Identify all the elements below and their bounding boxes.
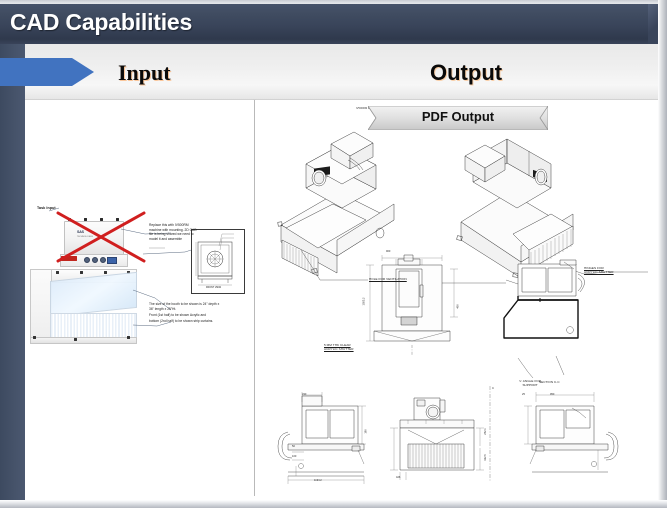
slide-root: CAD Capabilities Input Output SAS TECHNO…	[0, 0, 667, 508]
dim-sub-h: 25	[522, 393, 525, 396]
dim-sub-b: 330	[302, 393, 306, 396]
task-input-label: Task Input	[37, 206, 56, 210]
callout-hinges-line2: ACRYLIC SHUTTER	[584, 270, 614, 274]
annotation-booth-size-intro: The size of the booth to be shown is 24"…	[149, 302, 223, 311]
slide-title-bar: CAD Capabilities	[0, 4, 658, 44]
pdf-output-tab[interactable]: PDF Output	[368, 106, 548, 130]
section-marker-c: C	[492, 386, 494, 390]
output-panel: HOLE FOR VENTILATION HINGES FOR ACRYLIC …	[256, 99, 658, 497]
callout-clear-acrylic-shutter: 5 MM THK CLEAR ACRYLIC SHUTTER	[324, 343, 354, 351]
input-panel: SAS TECHNOLOGIES	[25, 99, 253, 497]
dim-depth: 950	[550, 393, 554, 396]
annotation-leader-lines	[25, 100, 253, 497]
dim-sub-a: 400	[457, 304, 460, 308]
callout-langle-line2: SUPPORT	[519, 383, 541, 387]
inset-front-view-drawing: FRONT VIEW	[191, 229, 245, 294]
annotation-bullet-bottom: bottom (2nd half) to be shown strip curt…	[149, 319, 223, 324]
dim-sub-c: 252.1	[484, 428, 487, 435]
cad-drawing-sheet: HOLE FOR VENTILATION HINGES FOR ACRYLIC …	[256, 100, 658, 497]
title-bar-corner-fold	[648, 4, 658, 44]
section-cc-label: SECTION C-C	[539, 380, 560, 384]
pdf-output-tab-label: PDF Output	[368, 109, 548, 124]
red-x-cross-out-icon	[55, 210, 147, 264]
annotation-booth-size: The size of the booth to be shown is 24"…	[149, 302, 223, 324]
annotation-bullet-front: Front (1st half) to be shown Acrylic and	[149, 313, 223, 318]
dim-sub-e: 190	[365, 429, 368, 433]
dim-height: 1053.2	[362, 298, 365, 306]
dim-sub-f: 426	[396, 476, 400, 479]
inset-view-label: FRONT VIEW	[206, 286, 221, 289]
left-accent-strip	[0, 44, 25, 508]
dim-overall-length: 1194.2	[314, 479, 322, 482]
callout-hole-for-ventilation: HOLE FOR VENTILATION	[369, 277, 407, 281]
callout-l-angle-for-support: 'L' ANGLE FOR SUPPORT	[519, 379, 541, 387]
cad-vector-artwork	[256, 100, 658, 497]
input-column-heading: Input	[118, 60, 171, 86]
slide-bottom-edge	[0, 500, 667, 508]
slide-right-edge	[658, 0, 667, 508]
callout-acrylic-line2: ACRYLIC SHUTTER	[324, 347, 354, 351]
output-column-heading: Output	[430, 60, 502, 86]
page-title: CAD Capabilities	[10, 9, 192, 36]
dim-sub-g: 100	[292, 455, 296, 458]
panel-divider	[254, 100, 255, 496]
annotation-replace-machine: Replace this with IV500RM machine with m…	[149, 223, 199, 242]
dim-sub-i: 50	[292, 445, 295, 448]
right-arrow-banner-icon	[0, 56, 95, 88]
dim-width: 900	[386, 250, 390, 253]
dim-sub-d: 322.5	[484, 454, 487, 461]
callout-hinges-for-acrylic-shutter: HINGES FOR ACRYLIC SHUTTER	[584, 266, 614, 274]
